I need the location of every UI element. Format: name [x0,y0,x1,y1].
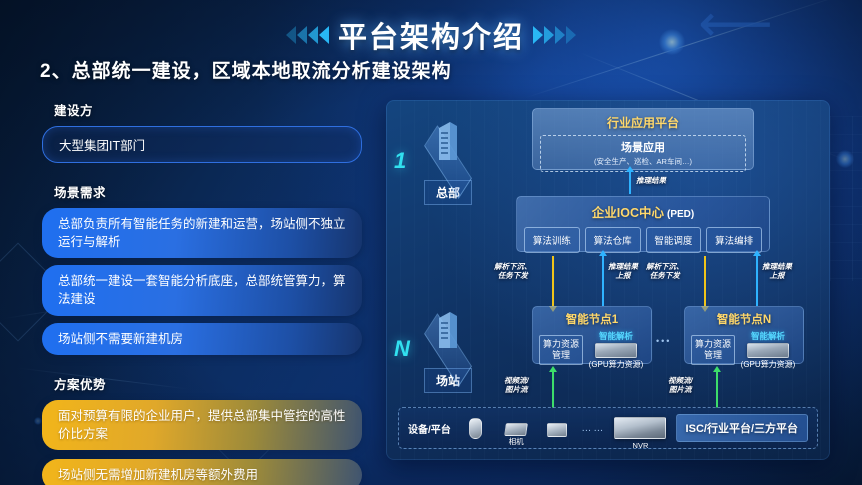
arrow-task-dispatch-nodeN [704,256,706,306]
arrow-result-to-app [629,172,631,194]
advantage-pill-2[interactable]: 场站侧无需增加新建机房等额外费用 [42,459,362,485]
node-1-server-icon [595,343,637,358]
bullet-camera-item[interactable]: 相机 [500,420,533,436]
bullet-camera-icon [504,423,528,436]
box-camera-item[interactable] [541,420,574,437]
dome-camera-icon [469,418,482,439]
app-platform-title: 行业应用平台 [533,109,753,131]
tier-headquarters: 1 总部 [396,112,482,205]
page-title: 平台架构介绍 [338,14,524,56]
arrow-label-task-dispatch-node1: 解析下沉、 任务下发 [494,262,532,281]
stream-label-line2: 图片流 [505,385,528,394]
architecture-diagram-panel: 1 总部 N [386,100,830,460]
platform-badge[interactable]: ISC/行业平台/三方平台 [676,414,808,442]
section-label-requirements: 场景需求 [54,182,362,201]
node-1-title: 智能节点1 [533,307,651,327]
requirement-pill-2[interactable]: 总部统一建设一套智能分析底座，总部统管算力，算法建设 [42,265,362,315]
box-camera-icon [547,423,567,437]
scene-application-examples: (安全生产、巡检、AR车间…) [545,156,741,167]
requirement-pill-1[interactable]: 总部负责所有智能任务的新建和运营，场站侧不独立运行与解析 [42,208,362,258]
section-label-builder: 建设方 [54,100,362,119]
arrow-stream-nodeN [716,372,718,408]
node-1-gpu-caption: (GPU算力资源) [587,359,645,370]
intelligent-node-1-box[interactable]: 智能节点1 算力资源管理 智能解析 (GPU算力资源) [532,306,652,364]
stream-n-label-line2: 图片流 [669,385,692,394]
node-n-body: 算力资源管理 智能解析 (GPU算力资源) [685,327,803,375]
node-ellipsis: ••• [656,336,671,346]
advantage-pill-1[interactable]: 面对预算有限的企业用户，提供总部集中管控的高性价比方案 [42,400,362,450]
dome-camera-item[interactable] [459,418,492,439]
node-1-gpu-group: 智能解析 (GPU算力资源) [587,330,645,370]
ioc-header: 企业IOC中心(PED) [517,197,769,222]
node-1-analysis-label: 智能解析 [587,330,645,342]
arrow-label-result-report-nodeN: 推理结果 上报 [762,262,792,281]
industry-app-platform-box[interactable]: 行业应用平台 场景应用 (安全生产、巡检、AR车间…) [532,108,754,170]
dispatch-n-label-line2: 任务下发 [650,271,680,280]
node-1-resource-mgmt[interactable]: 算力资源管理 [539,335,583,366]
tier-number-1: 1 [394,148,406,174]
ioc-cell-algorithm-repository[interactable]: 算法仓库 [585,227,641,253]
report-n-label-line2: 上报 [770,271,785,280]
arrow-label-result-report-node1: 推理结果 上报 [608,262,638,281]
ioc-cell-smart-scheduling[interactable]: 智能调度 [646,227,702,253]
device-ellipsis: …… [581,423,605,434]
arrow-task-dispatch-node1 [552,256,554,306]
node-n-title: 智能节点N [685,307,803,327]
nvr-item[interactable]: NVR [613,417,667,439]
right-chevrons-icon [533,26,576,44]
ioc-title-zh: 企业IOC中心 [592,206,664,220]
ioc-title-en: (PED) [667,209,694,220]
nvr-caption: NVR [613,441,667,450]
report-n-label-line1: 推理结果 [762,262,792,271]
building-svg-station [433,304,463,348]
section-label-advantages: 方案优势 [54,374,362,393]
slide-subtitle: 2、总部统一建设，区域本地取流分析建设架构 [40,56,452,83]
scene-application-block: 场景应用 (安全生产、巡检、AR车间…) [540,135,746,172]
node-n-resource-mgmt[interactable]: 算力资源管理 [691,335,735,366]
report-label-line2: 上报 [616,271,631,280]
arrow-result-report-nodeN [756,256,758,306]
left-chevrons-icon [286,26,329,44]
dispatch-n-label-line1: 解析下沉、 [646,262,684,271]
node-n-gpu-caption: (GPU算力资源) [739,359,797,370]
arrow-label-stream-nodeN: 视频流/ 图片流 [668,376,693,395]
requirement-pill-3[interactable]: 场站侧不需要新建机房 [42,323,362,355]
ioc-cell-algorithm-training[interactable]: 算法训练 [524,227,580,253]
device-row-label: 设备/平台 [408,421,451,436]
node-n-gpu-group: 智能解析 (GPU算力资源) [739,330,797,370]
camera-caption: 相机 [500,436,533,447]
enterprise-ioc-center-box[interactable]: 企业IOC中心(PED) 算法训练 算法仓库 智能调度 算法编排 [516,196,770,252]
intelligent-node-n-box[interactable]: 智能节点N 算力资源管理 智能解析 (GPU算力资源) [684,306,804,364]
dispatch-label-line1: 解析下沉、 [494,262,532,271]
stream-n-label-line1: 视频流/ [668,376,693,385]
dispatch-label-line2: 任务下发 [498,271,528,280]
station-building-icon [414,300,482,362]
node-n-analysis-label: 智能解析 [739,330,797,342]
building-svg-hq [433,116,463,160]
device-platform-row: 设备/平台 相机 …… NVR ISC/行业平台/三方平台 [398,407,818,449]
node-n-server-icon [747,343,789,358]
arrow-result-report-node1 [602,256,604,306]
builder-pill[interactable]: 大型集团IT部门 [42,126,362,163]
tier-number-n: N [394,336,410,362]
headquarters-building-icon [414,112,482,174]
slide-title-bar: 平台架构介绍 [0,14,862,56]
arrow-stream-node1 [552,372,554,408]
left-content-column: 建设方 大型集团IT部门 场景需求 总部负责所有智能任务的新建和运营，场站侧不独… [42,100,362,485]
nvr-icon [614,417,666,439]
arrow-label-stream-node1: 视频流/ 图片流 [504,376,529,395]
arrow-label-result-to-app: 推理结果 [636,176,666,185]
stream-label-line1: 视频流/ [504,376,529,385]
tier-station: N 场站 [396,300,482,393]
report-label-line1: 推理结果 [608,262,638,271]
ioc-capability-row: 算法训练 算法仓库 智能调度 算法编排 [517,222,769,259]
scene-application-title: 场景应用 [545,139,741,155]
arrow-label-task-dispatch-nodeN: 解析下沉、 任务下发 [646,262,684,281]
